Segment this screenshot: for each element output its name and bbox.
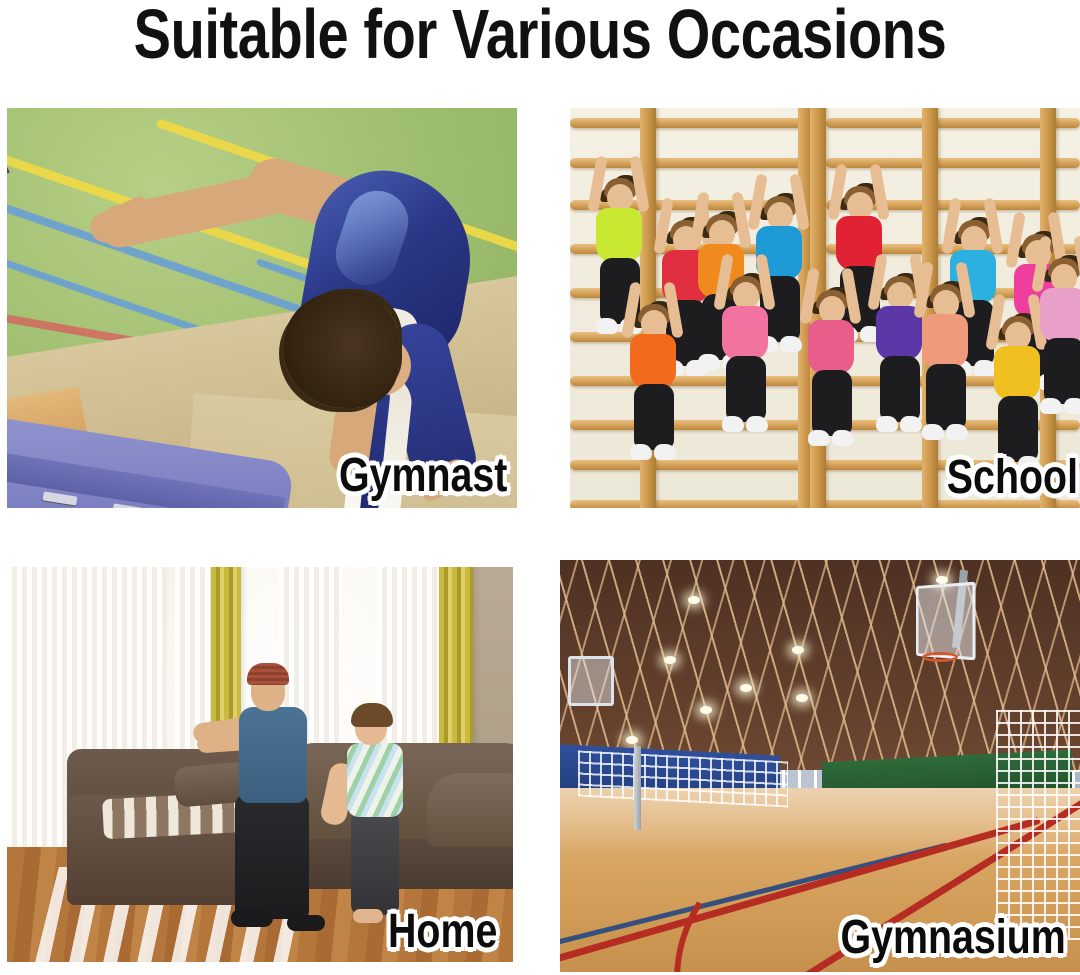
product-feature-poster: Suitable for Various Occasions [0,0,1080,975]
scene-school-photo [570,108,1080,508]
boy-torso [347,743,403,817]
man-shoe [231,909,273,927]
boy-foot [353,909,383,923]
man-torso [239,707,307,803]
boy-legs [351,811,399,915]
sofa-armrest [427,773,513,847]
boy-hair [351,703,393,727]
safety-net [996,710,1080,940]
man-legs [235,795,309,919]
caption-school: School [947,454,1078,502]
ceiling-light [664,656,676,664]
panel-home[interactable]: Home [7,567,513,962]
page-title: Suitable for Various Occasions [108,0,972,70]
ceiling-light [740,684,752,692]
basketball-backboard [916,582,976,661]
caption-gymnast: Gymnast [339,452,507,500]
ceiling-light [700,706,712,714]
man-bandana [247,663,289,685]
panel-gymnast[interactable]: Gymnast [7,108,517,508]
wall-bar-rung [570,376,810,386]
ceiling-light [626,736,638,744]
ceiling-light [796,694,808,702]
ceiling-light [792,646,804,654]
scene-gymnast-photo [7,108,517,508]
man-shoe [287,915,325,931]
caption-home: Home [388,908,497,956]
basketball-rim [922,652,958,662]
panel-school[interactable]: School [570,108,1080,508]
wall-bar-rung [570,118,810,128]
scene-home-photo [7,567,513,962]
panel-gymnasium[interactable]: Gymnasium [560,560,1080,972]
volleyball-post [634,746,641,830]
gymnast-hair [283,292,399,408]
basketball-backboard [568,656,614,706]
caption-gymnasium: Gymnasium [841,914,1066,962]
ceiling-light [688,596,700,604]
